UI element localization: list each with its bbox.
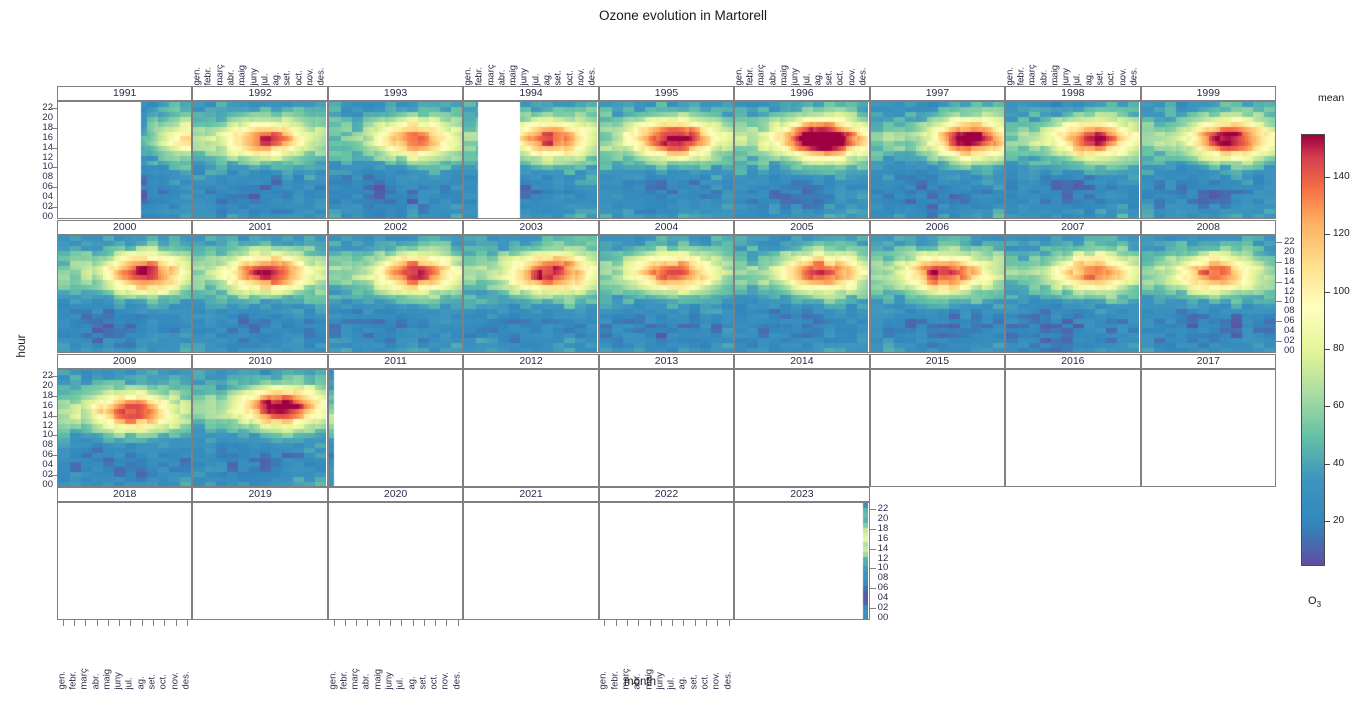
month-tick-mark xyxy=(717,620,718,626)
month-tick-mark xyxy=(841,77,842,83)
month-tick-mark xyxy=(435,620,436,626)
hour-tick-label: 14 xyxy=(23,143,53,153)
month-tick-mark xyxy=(63,620,64,626)
facet-plot-2020 xyxy=(328,502,463,620)
month-tick-mark xyxy=(683,620,684,626)
month-tick-mark xyxy=(1101,77,1102,83)
month-tick-mark xyxy=(650,620,651,626)
facet-plot-2012 xyxy=(463,369,598,487)
hour-tick-label: 06 xyxy=(23,450,53,460)
legend-tick-label: 20 xyxy=(1333,515,1344,526)
month-tick-mark xyxy=(740,77,741,83)
month-tick-mark xyxy=(548,77,549,83)
legend-colorbar xyxy=(1301,134,1325,566)
heatmap-canvas-2003 xyxy=(464,236,597,352)
month-tick-mark xyxy=(469,77,470,83)
facet-plot-2014 xyxy=(734,369,869,487)
month-tick-mark xyxy=(209,77,210,83)
hour-tick-label: 12 xyxy=(878,554,908,564)
hour-tick-mark xyxy=(51,167,57,168)
heatmap-canvas-2007 xyxy=(1006,236,1139,352)
month-tick-mark xyxy=(661,620,662,626)
hour-tick-label: 20 xyxy=(23,381,53,391)
facet-panel-2006: 2006 xyxy=(870,220,1005,353)
hour-tick-label: 10 xyxy=(23,430,53,440)
month-tick-mark xyxy=(446,620,447,626)
hour-tick-mark xyxy=(870,509,876,510)
month-tick-mark xyxy=(762,77,763,83)
hour-tick-mark xyxy=(1276,321,1282,322)
facet-plot-2008 xyxy=(1141,235,1276,353)
month-tick-mark xyxy=(176,620,177,626)
month-tick-mark xyxy=(695,620,696,626)
month-tick-mark xyxy=(322,77,323,83)
facet-strip-label-1997: 1997 xyxy=(870,86,1005,101)
facet-strip-label-1999: 1999 xyxy=(1141,86,1276,101)
hour-tick-mark xyxy=(51,148,57,149)
facet-panel-2007: 2007 xyxy=(1005,220,1140,353)
facet-panel-2008: 2008 xyxy=(1141,220,1276,353)
month-tick-mark xyxy=(559,77,560,83)
month-tick-mark xyxy=(390,620,391,626)
hour-tick-mark xyxy=(1276,282,1282,283)
facet-panel-2023: 2023 xyxy=(734,487,869,620)
month-tick-mark xyxy=(356,620,357,626)
facet-panel-2012: 2012 xyxy=(463,354,598,487)
facet-panel-2009: 2009 xyxy=(57,354,192,487)
facet-strip-label-2011: 2011 xyxy=(328,354,463,369)
legend-tick-mark xyxy=(1324,292,1330,293)
facet-panel-2000: 2000 xyxy=(57,220,192,353)
month-tick-mark xyxy=(97,620,98,626)
legend-tick-label: 40 xyxy=(1333,458,1344,469)
hour-tick-label: 12 xyxy=(23,421,53,431)
legend-tick-mark xyxy=(1324,177,1330,178)
facet-strip-label-2019: 2019 xyxy=(192,487,327,502)
heatmap-canvas-2002 xyxy=(329,236,462,352)
hour-tick-label: 06 xyxy=(23,182,53,192)
facet-plot-2010 xyxy=(192,369,327,487)
facet-strip-label-2021: 2021 xyxy=(463,487,598,502)
facet-panel-1996: 1996 xyxy=(734,86,869,219)
facet-strip-label-2004: 2004 xyxy=(599,220,734,235)
month-tick-mark xyxy=(1067,77,1068,83)
facet-strip-label-2000: 2000 xyxy=(57,220,192,235)
month-tick-mark xyxy=(571,77,572,83)
month-tick-mark xyxy=(796,77,797,83)
month-tick-mark xyxy=(808,77,809,83)
page-title: Ozone evolution in Martorell xyxy=(0,8,1366,23)
facet-panel-2021: 2021 xyxy=(463,487,598,620)
month-tick-mark xyxy=(729,620,730,626)
month-tick-mark xyxy=(277,77,278,83)
month-tick-mark xyxy=(616,620,617,626)
facet-panel-2015: 2015 xyxy=(870,354,1005,487)
facet-strip-label-2022: 2022 xyxy=(599,487,734,502)
facet-strip-label-1998: 1998 xyxy=(1005,86,1140,101)
month-tick-mark xyxy=(413,620,414,626)
month-tick-mark xyxy=(830,77,831,83)
month-tick-mark xyxy=(864,77,865,83)
facet-strip-label-2016: 2016 xyxy=(1005,354,1140,369)
facet-panel-2010: 2010 xyxy=(192,354,327,487)
hour-tick-mark xyxy=(51,455,57,456)
hour-tick-label: 08 xyxy=(23,440,53,450)
facet-strip-label-2003: 2003 xyxy=(463,220,598,235)
heatmap-canvas-1993 xyxy=(329,102,462,218)
legend-title: mean xyxy=(1318,92,1344,104)
legend-tick-label: 80 xyxy=(1333,343,1344,354)
facet-plot-2007 xyxy=(1005,235,1140,353)
month-tick-mark xyxy=(243,77,244,83)
facet-panel-2022: 2022 xyxy=(599,487,734,620)
facet-strip-label-2015: 2015 xyxy=(870,354,1005,369)
facet-plot-1991 xyxy=(57,101,192,219)
heatmap-canvas-1999 xyxy=(1142,102,1275,218)
heatmap-canvas-2008 xyxy=(1142,236,1275,352)
month-tick-mark xyxy=(255,77,256,83)
hour-tick-label: 18 xyxy=(23,391,53,401)
facet-panel-2019: 2019 xyxy=(192,487,327,620)
month-tick-mark xyxy=(1112,77,1113,83)
y-axis-title: hour xyxy=(16,326,28,366)
hour-tick-mark xyxy=(1276,242,1282,243)
hour-tick-label: 10 xyxy=(23,162,53,172)
facet-strip-label-2012: 2012 xyxy=(463,354,598,369)
month-tick-mark xyxy=(300,77,301,83)
hour-tick-mark xyxy=(51,108,57,109)
facet-plot-1995 xyxy=(599,101,734,219)
hour-tick-label: 12 xyxy=(23,153,53,163)
heatmap-canvas-2009 xyxy=(58,370,191,486)
month-tick-mark xyxy=(1124,77,1125,83)
month-tick-mark xyxy=(480,77,481,83)
facet-strip-label-1994: 1994 xyxy=(463,86,598,101)
month-tick-mark xyxy=(1033,77,1034,83)
month-tick-mark xyxy=(514,77,515,83)
hour-tick-label: 20 xyxy=(23,113,53,123)
month-tick-mark xyxy=(582,77,583,83)
hour-tick-mark xyxy=(870,568,876,569)
facet-strip-label-2006: 2006 xyxy=(870,220,1005,235)
hour-tick-mark xyxy=(51,435,57,436)
facet-plot-1993 xyxy=(328,101,463,219)
facet-strip-label-1991: 1991 xyxy=(57,86,192,101)
facet-panel-1999: 1999 xyxy=(1141,86,1276,219)
month-tick-mark xyxy=(379,620,380,626)
facet-panel-2014: 2014 xyxy=(734,354,869,487)
facet-panel-1997: 1997 xyxy=(870,86,1005,219)
hour-tick-label: 00 xyxy=(878,613,908,623)
x-axis-title: month xyxy=(0,676,1280,688)
facet-panel-1992: 1992 xyxy=(192,86,327,219)
month-tick-mark xyxy=(424,620,425,626)
facet-plot-2001 xyxy=(192,235,327,353)
month-tick-mark xyxy=(85,620,86,626)
month-tick-mark xyxy=(492,77,493,83)
legend-tick-mark xyxy=(1324,464,1330,465)
facet-panel-1995: 1995 xyxy=(599,86,734,219)
month-tick-mark xyxy=(751,77,752,83)
facet-panel-1991: 1991 xyxy=(57,86,192,219)
heatmap-canvas-1995 xyxy=(600,102,733,218)
hour-tick-label: 04 xyxy=(23,192,53,202)
month-tick-mark xyxy=(706,620,707,626)
facet-strip-label-2023: 2023 xyxy=(734,487,869,502)
heatmap-canvas-2000 xyxy=(58,236,191,352)
hour-tick-label: 16 xyxy=(23,401,53,411)
facet-strip-label-2009: 2009 xyxy=(57,354,192,369)
facet-plot-2021 xyxy=(463,502,598,620)
facet-strip-label-2010: 2010 xyxy=(192,354,327,369)
month-tick-mark xyxy=(401,620,402,626)
hour-tick-mark xyxy=(870,529,876,530)
month-tick-mark xyxy=(1045,77,1046,83)
month-tick-mark xyxy=(345,620,346,626)
month-tick-mark xyxy=(627,620,628,626)
month-tick-mark xyxy=(537,77,538,83)
heatmap-canvas-2001 xyxy=(193,236,326,352)
hour-tick-mark xyxy=(51,207,57,208)
month-tick-mark xyxy=(119,620,120,626)
facet-plot-2013 xyxy=(599,369,734,487)
facet-plot-1997 xyxy=(870,101,1005,219)
facet-plot-2002 xyxy=(328,235,463,353)
month-tick-mark xyxy=(164,620,165,626)
hour-tick-mark xyxy=(870,588,876,589)
facet-plot-1998 xyxy=(1005,101,1140,219)
legend-tick-mark xyxy=(1324,406,1330,407)
facet-plot-1996 xyxy=(734,101,869,219)
heatmap-canvas-2010 xyxy=(193,370,326,486)
facet-panel-2020: 2020 xyxy=(328,487,463,620)
facet-plot-2004 xyxy=(599,235,734,353)
hour-tick-mark xyxy=(51,416,57,417)
facet-plot-2019 xyxy=(192,502,327,620)
month-tick-mark xyxy=(142,620,143,626)
month-tick-mark xyxy=(1135,77,1136,83)
month-tick-mark xyxy=(74,620,75,626)
month-tick-mark xyxy=(232,77,233,83)
facet-strip-label-2007: 2007 xyxy=(1005,220,1140,235)
legend-tick-mark xyxy=(1324,349,1330,350)
hour-tick-mark xyxy=(1276,341,1282,342)
facet-plot-2018 xyxy=(57,502,192,620)
facet-plot-2011 xyxy=(328,369,463,487)
facet-strip-label-2020: 2020 xyxy=(328,487,463,502)
plot-stage: Ozone evolution in Martorell 19911992199… xyxy=(0,0,1366,703)
facet-panel-1994: 1994 xyxy=(463,86,598,219)
month-tick-mark xyxy=(1022,77,1023,83)
month-tick-mark xyxy=(311,77,312,83)
heatmap-canvas-2006 xyxy=(871,236,1004,352)
hour-tick-label: 04 xyxy=(878,593,908,603)
month-tick-mark xyxy=(288,77,289,83)
heatmap-canvas-1992 xyxy=(193,102,326,218)
month-tick-mark xyxy=(266,77,267,83)
hour-tick-label: 08 xyxy=(23,172,53,182)
hour-tick-label: 18 xyxy=(23,123,53,133)
heatmap-canvas-1997 xyxy=(871,102,1004,218)
legend-tick-label: 120 xyxy=(1333,228,1350,239)
facet-plot-1994 xyxy=(463,101,598,219)
heatmap-canvas-2005 xyxy=(735,236,868,352)
month-tick-mark xyxy=(853,77,854,83)
month-tick-mark xyxy=(1056,77,1057,83)
hour-tick-label: 02 xyxy=(23,202,53,212)
hour-tick-label: 14 xyxy=(878,544,908,554)
hour-tick-label: 18 xyxy=(878,524,908,534)
hour-tick-label: 22 xyxy=(878,504,908,514)
hour-tick-mark xyxy=(870,549,876,550)
hour-tick-mark xyxy=(51,128,57,129)
heatmap-canvas-1994 xyxy=(464,102,597,218)
month-tick-mark xyxy=(503,77,504,83)
facet-plot-2015 xyxy=(870,369,1005,487)
facet-strip-label-1995: 1995 xyxy=(599,86,734,101)
hour-tick-label: 02 xyxy=(23,470,53,480)
month-tick-mark xyxy=(785,77,786,83)
month-tick-mark xyxy=(334,620,335,626)
hour-tick-mark xyxy=(51,187,57,188)
month-tick-mark xyxy=(153,620,154,626)
month-tick-mark xyxy=(638,620,639,626)
month-tick-mark xyxy=(1011,77,1012,83)
hour-tick-label: 10 xyxy=(878,563,908,573)
facet-strip-label-2017: 2017 xyxy=(1141,354,1276,369)
month-tick-mark xyxy=(819,77,820,83)
month-tick-mark xyxy=(458,620,459,626)
month-tick-mark xyxy=(1078,77,1079,83)
facet-plot-2005 xyxy=(734,235,869,353)
facet-plot-2003 xyxy=(463,235,598,353)
legend-tick-mark xyxy=(1324,521,1330,522)
facet-plot-2016 xyxy=(1005,369,1140,487)
facet-panel-2013: 2013 xyxy=(599,354,734,487)
facet-plot-2009 xyxy=(57,369,192,487)
facet-panel-1993: 1993 xyxy=(328,86,463,219)
legend-tick-label: 140 xyxy=(1333,171,1350,182)
facet-panel-2005: 2005 xyxy=(734,220,869,353)
heatmap-canvas-2023 xyxy=(735,503,868,619)
legend-unit-label: O3 xyxy=(1308,595,1321,609)
month-tick-mark xyxy=(774,77,775,83)
month-tick-mark xyxy=(187,620,188,626)
facet-strip-label-1992: 1992 xyxy=(192,86,327,101)
heatmap-canvas-1991 xyxy=(58,102,191,218)
facet-strip-label-2001: 2001 xyxy=(192,220,327,235)
month-tick-mark xyxy=(1090,77,1091,83)
facet-plot-2022 xyxy=(599,502,734,620)
hour-tick-mark xyxy=(51,475,57,476)
facet-panel-2011: 2011 xyxy=(328,354,463,487)
hour-tick-label: 02 xyxy=(878,603,908,613)
facet-panel-2002: 2002 xyxy=(328,220,463,353)
facet-panel-2016: 2016 xyxy=(1005,354,1140,487)
facet-strip-label-2005: 2005 xyxy=(734,220,869,235)
facet-plot-2006 xyxy=(870,235,1005,353)
hour-tick-label: 20 xyxy=(878,514,908,524)
legend-tick-label: 100 xyxy=(1333,286,1350,297)
facet-panel-2018: 2018 xyxy=(57,487,192,620)
month-tick-mark xyxy=(198,77,199,83)
heatmap-canvas-2011 xyxy=(329,370,462,486)
facet-plot-2017 xyxy=(1141,369,1276,487)
facet-panel-2017: 2017 xyxy=(1141,354,1276,487)
legend-tick-mark xyxy=(1324,234,1330,235)
facet-strip-label-2008: 2008 xyxy=(1141,220,1276,235)
month-tick-mark xyxy=(221,77,222,83)
month-tick-mark xyxy=(130,620,131,626)
hour-tick-label: 16 xyxy=(23,133,53,143)
facet-strip-label-2018: 2018 xyxy=(57,487,192,502)
facet-panel-1998: 1998 xyxy=(1005,86,1140,219)
heatmap-canvas-1996 xyxy=(735,102,868,218)
month-tick-mark xyxy=(604,620,605,626)
facet-strip-label-2002: 2002 xyxy=(328,220,463,235)
heatmap-canvas-2004 xyxy=(600,236,733,352)
hour-tick-mark xyxy=(51,396,57,397)
hour-tick-mark xyxy=(870,608,876,609)
hour-tick-label: 14 xyxy=(23,411,53,421)
facet-strip-label-1996: 1996 xyxy=(734,86,869,101)
hour-tick-label: 22 xyxy=(23,103,53,113)
facet-plot-1992 xyxy=(192,101,327,219)
facet-strip-label-2013: 2013 xyxy=(599,354,734,369)
hour-tick-label: 08 xyxy=(878,573,908,583)
heatmap-canvas-1998 xyxy=(1006,102,1139,218)
hour-tick-label: 16 xyxy=(878,534,908,544)
month-tick-mark xyxy=(525,77,526,83)
hour-tick-mark xyxy=(1276,262,1282,263)
hour-tick-label: 04 xyxy=(23,460,53,470)
facet-strip-label-2014: 2014 xyxy=(734,354,869,369)
facet-panel-2001: 2001 xyxy=(192,220,327,353)
month-tick-mark xyxy=(367,620,368,626)
facet-plot-2023 xyxy=(734,502,869,620)
hour-tick-label: 00 xyxy=(23,212,53,222)
month-tick-mark xyxy=(593,77,594,83)
hour-tick-label: 00 xyxy=(23,480,53,490)
legend-tick-label: 60 xyxy=(1333,400,1344,411)
facet-panel-2004: 2004 xyxy=(599,220,734,353)
hour-tick-mark xyxy=(51,376,57,377)
hour-tick-label: 06 xyxy=(878,583,908,593)
facet-strip-label-1993: 1993 xyxy=(328,86,463,101)
facet-plot-1999 xyxy=(1141,101,1276,219)
facet-panel-2003: 2003 xyxy=(463,220,598,353)
hour-tick-mark xyxy=(1276,301,1282,302)
month-tick-mark xyxy=(672,620,673,626)
facet-plot-2000 xyxy=(57,235,192,353)
month-tick-mark xyxy=(108,620,109,626)
hour-tick-label: 22 xyxy=(23,371,53,381)
